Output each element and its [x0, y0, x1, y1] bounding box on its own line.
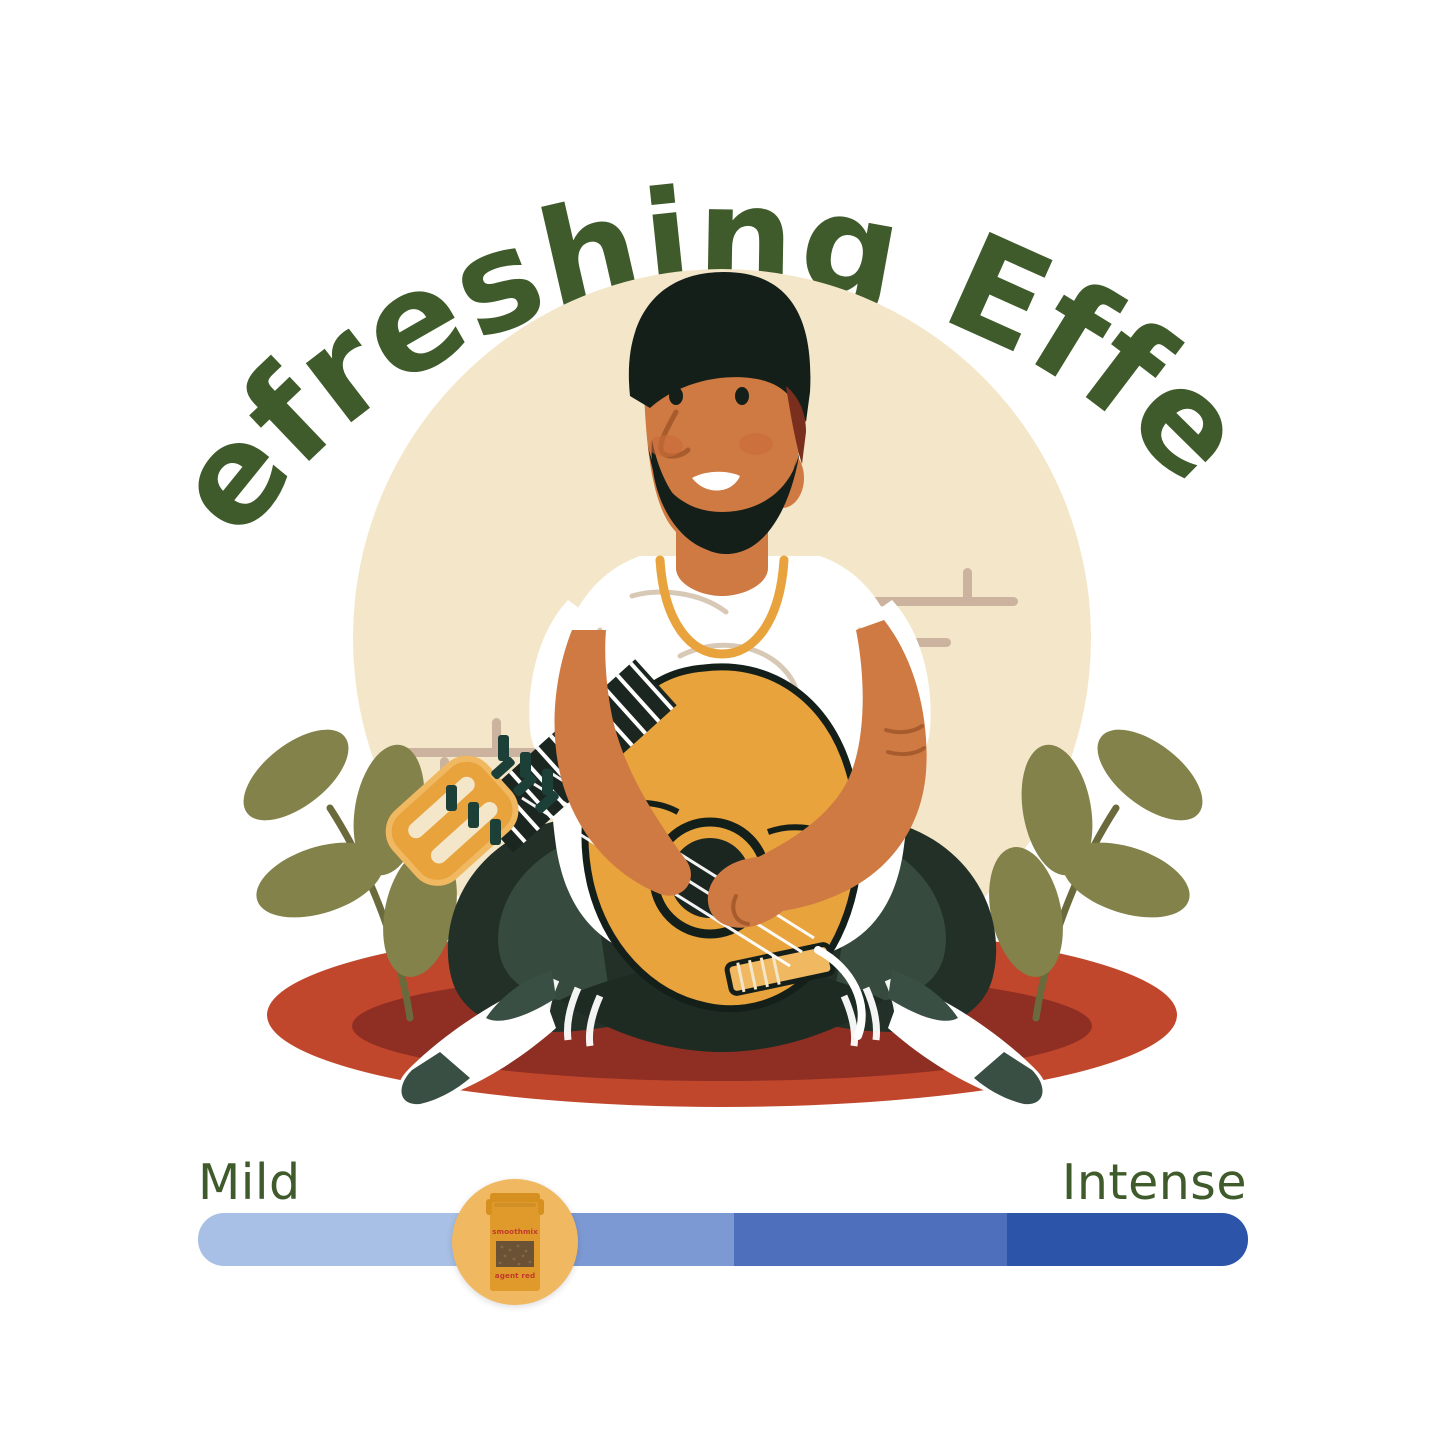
pouch-brand-label: smoothmix [486, 1228, 544, 1235]
slider-label-row: Mild Intense [198, 1147, 1247, 1207]
slider-min-label: Mild [198, 1158, 301, 1207]
eye [669, 387, 683, 405]
eye [735, 387, 749, 405]
slider-knob[interactable]: smoothmix agent red [452, 1179, 578, 1305]
pouch-variant-label: agent red [486, 1272, 544, 1279]
leaf [1082, 712, 1218, 837]
intensity-slider[interactable]: Mild Intense [0, 1147, 1445, 1327]
leaf [228, 712, 364, 837]
hero-illustration [0, 160, 1445, 1110]
slider-max-label: Intense [1062, 1158, 1247, 1207]
slider-segment-4[interactable] [1007, 1213, 1249, 1266]
poster-canvas: Refreshing Effect [0, 0, 1445, 1445]
slider-segment-3[interactable] [734, 1213, 1007, 1266]
product-pouch: smoothmix agent red [486, 1193, 544, 1291]
slider-track[interactable] [198, 1213, 1248, 1266]
